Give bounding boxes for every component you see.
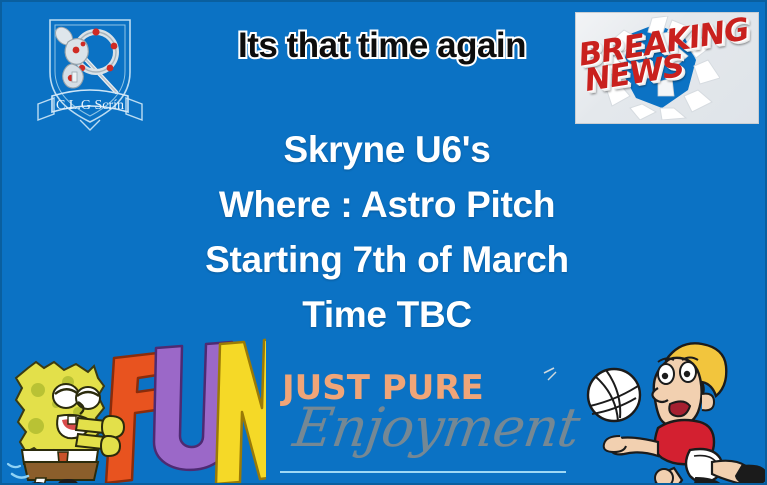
sparkle-icon — [532, 364, 558, 390]
announcement-block: Skryne U6's Where : Astro Pitch Starting… — [137, 122, 637, 342]
fun-graphic — [6, 338, 266, 485]
volleyball-player-svg — [562, 332, 767, 485]
announcement-line-start: Starting 7th of March — [137, 232, 637, 287]
club-crest: C.L.G Scrín — [24, 10, 156, 132]
tagline-group: JUST PURE Enjoyment — [274, 368, 564, 468]
fun-graphic-svg — [6, 338, 266, 485]
crest-club-name: C.L.G Scrín — [56, 98, 124, 113]
brooch-ornament-icon — [63, 39, 89, 88]
announcement-line-where: Where : Astro Pitch — [137, 177, 637, 232]
tagline-underline — [280, 471, 566, 473]
event-poster: C.L.G Scrín Its that time again — [0, 0, 767, 485]
tagline-script: Enjoyment — [290, 396, 583, 459]
fun-letter-n — [216, 338, 266, 484]
announcement-line-team: Skryne U6's — [137, 122, 637, 177]
breaking-news-graphic: BREAKING NEWS — [575, 12, 759, 124]
volleyball-icon — [588, 369, 640, 421]
fun-letters — [106, 338, 266, 484]
club-crest-svg: C.L.G Scrín — [24, 10, 156, 132]
page-title: Its that time again — [192, 28, 572, 65]
player-shoe-back — [736, 466, 766, 484]
player-shoe-front — [694, 478, 724, 485]
volleyball-player-graphic — [562, 332, 767, 485]
